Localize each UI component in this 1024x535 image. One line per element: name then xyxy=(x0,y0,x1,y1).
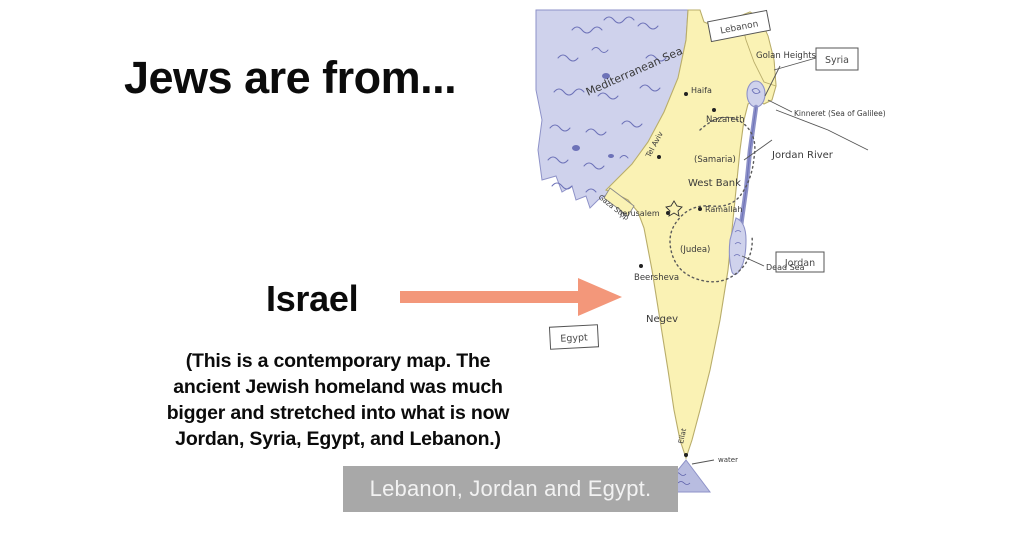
ramallah-label: Ramallah xyxy=(705,205,742,214)
country-box-syria: Syria xyxy=(816,48,858,70)
nazareth-label: Nazareth xyxy=(706,115,745,125)
country-box-egypt: Egypt xyxy=(549,325,598,349)
dead-sea-label: Dead Sea xyxy=(766,263,805,272)
golan-heights-label: Golan Heights xyxy=(756,51,817,61)
paragraph-line-2: ancient Jewish homeland was much xyxy=(118,374,558,400)
page-title: Jews are from... xyxy=(124,52,456,104)
jerusalem-label: Jerusalem xyxy=(619,209,660,218)
israel-map-graphic: Lebanon Syria Jordan Egypt xyxy=(528,0,898,500)
paragraph-line-4: Jordan, Syria, Egypt, and Lebanon.) xyxy=(118,426,558,452)
jordan-river-label: Jordan River xyxy=(771,150,834,161)
syria-box-label: Syria xyxy=(825,55,849,66)
explanatory-paragraph: (This is a contemporary map. The ancient… xyxy=(118,348,558,452)
paragraph-line-3: bigger and stretched into what is now xyxy=(118,400,558,426)
map-svg: Lebanon Syria Jordan Egypt xyxy=(528,0,898,500)
negev-label: Negev xyxy=(646,314,678,325)
judea-label: (Judea) xyxy=(680,245,710,255)
subtitle-caption-text: Lebanon, Jordan and Egypt. xyxy=(370,476,652,502)
samaria-label: (Samaria) xyxy=(694,155,736,165)
subtitle-caption-bar: Lebanon, Jordan and Egypt. xyxy=(343,466,678,512)
israel-annotation-label: Israel xyxy=(266,278,358,320)
slide-canvas: Jews are from... Israel (This is a conte… xyxy=(0,0,1024,535)
egypt-box-label: Egypt xyxy=(560,332,588,344)
red-sea-label: water xyxy=(718,456,738,464)
beersheva-label: Beersheva xyxy=(634,273,679,283)
west-bank-label: West Bank xyxy=(688,178,741,189)
haifa-label: Haifa xyxy=(691,86,712,95)
kinneret-label: Kinneret (Sea of Galilee) xyxy=(794,109,886,118)
paragraph-line-1: (This is a contemporary map. The xyxy=(118,348,558,374)
